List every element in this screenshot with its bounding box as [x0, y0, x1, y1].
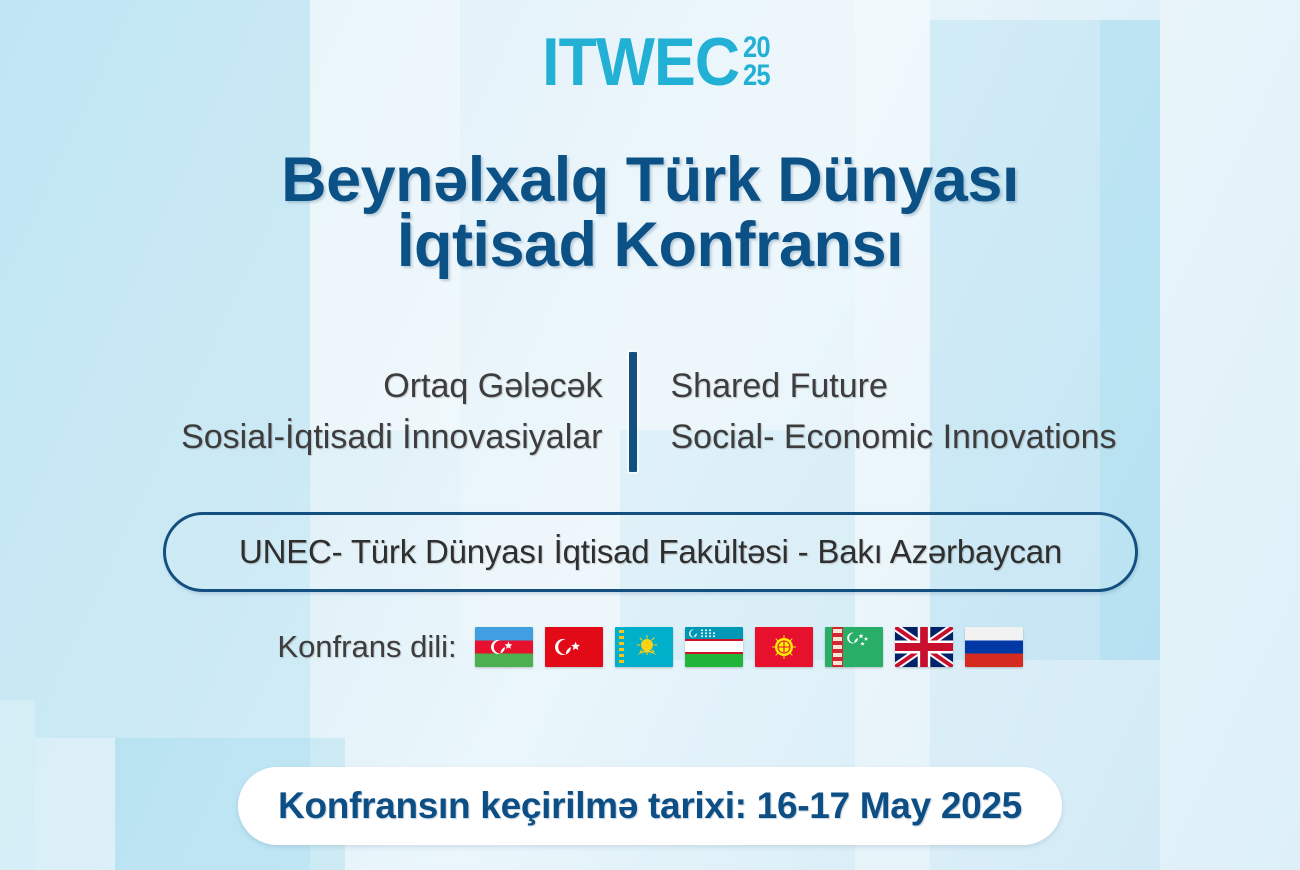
background-band	[0, 700, 35, 870]
united-kingdom-flag-icon	[895, 627, 953, 667]
subtitle-section: Ortaq Gələcək Sosial-İqtisadi İnnovasiya…	[0, 352, 1300, 472]
subtitle-en-line-2: Social- Economic Innovations	[671, 412, 1197, 463]
turkey-flag-icon	[545, 627, 603, 667]
venue-text: UNEC- Türk Dünyası İqtisad Fakültəsi - B…	[239, 533, 1062, 571]
logo-wordmark: ITWEC	[542, 30, 739, 95]
title-line-2: İqtisad Konfransı	[0, 213, 1300, 278]
page-title: Beynəlxalq Türk Dünyası İqtisad Konfrans…	[0, 148, 1300, 278]
itwec-logo: ITWEC 20 25	[0, 30, 1300, 95]
subtitle-english: Shared Future Social- Economic Innovatio…	[637, 352, 1197, 472]
subtitle-divider	[629, 352, 637, 472]
conference-date-badge: Konfransın keçirilmə tarixi: 16-17 May 2…	[238, 767, 1062, 845]
title-line-1: Beynəlxalq Türk Dünyası	[0, 148, 1300, 213]
uzbekistan-flag-icon	[685, 627, 743, 667]
conference-poster: ITWEC 20 25 Beynəlxalq Türk Dünyası İqti…	[0, 0, 1300, 870]
azerbaijan-flag-icon	[475, 627, 533, 667]
conference-date-text: Konfransın keçirilmə tarixi: 16-17 May 2…	[278, 785, 1022, 827]
languages-label: Konfrans dili:	[277, 629, 456, 665]
subtitle-az-line-1: Ortaq Gələcək	[104, 361, 603, 412]
russia-flag-icon	[965, 627, 1023, 667]
venue-badge: UNEC- Türk Dünyası İqtisad Fakültəsi - B…	[163, 512, 1138, 592]
subtitle-azerbaijani: Ortaq Gələcək Sosial-İqtisadi İnnovasiya…	[104, 352, 629, 472]
subtitle-en-line-1: Shared Future	[671, 361, 1197, 412]
turkmenistan-flag-icon	[825, 627, 883, 667]
logo-year-top: 20	[743, 34, 770, 62]
kazakhstan-flag-icon	[615, 627, 673, 667]
kyrgyzstan-flag-icon	[755, 627, 813, 667]
logo-year-bottom: 25	[743, 62, 770, 90]
logo-year: 20 25	[743, 34, 774, 90]
subtitle-az-line-2: Sosial-İqtisadi İnnovasiyalar	[104, 412, 603, 463]
background-band	[35, 738, 115, 870]
conference-languages: Konfrans dili:	[0, 627, 1300, 667]
